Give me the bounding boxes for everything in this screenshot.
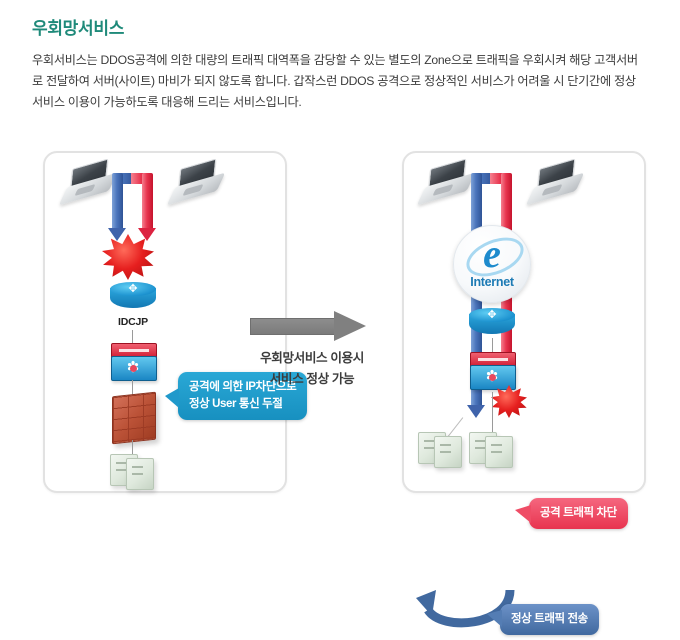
- transition-caption-line-2: 서비스 정상 가능: [228, 369, 396, 390]
- server-icon: [110, 450, 156, 490]
- router-arrows-glyph: ✥: [120, 283, 146, 295]
- callout-attack-traffic-block: 공격 트래픽 차단: [529, 498, 628, 529]
- switch-indicator: [130, 365, 137, 372]
- router-label: IDCJP: [88, 316, 178, 328]
- page-description-text: 우회서비스는 DDOS공격에 의한 대량의 트래픽 대역폭을 감당할 수 있는 …: [32, 50, 647, 113]
- server-icon: [469, 428, 515, 468]
- internet-label: Internet: [454, 275, 530, 289]
- router-icon: ✥: [469, 308, 515, 338]
- callout-normal-traffic-forward: 정상 트래픽 전송: [500, 604, 599, 635]
- arrowhead-red-down-icon: [138, 228, 156, 241]
- router-arrows-glyph: ✥: [479, 309, 505, 321]
- laptop-icon: [420, 164, 476, 204]
- transition-caption: 우회망서비스 이용시 서비스 정상 가능: [228, 348, 396, 390]
- laptop-icon: [170, 164, 226, 204]
- service-diagram: ✥ IDCJP ✽ 공격에 의한 IP차단으로 정상 User 통신 두절 우: [0, 140, 680, 525]
- traffic-pipe-red-vertical: [142, 173, 153, 231]
- server-box: [434, 436, 462, 468]
- callout-text: 정상 트래픽 전송: [511, 613, 588, 625]
- server-box: [126, 458, 154, 490]
- callout-tail: [487, 610, 502, 627]
- traffic-pipe-blue-vertical: [112, 173, 123, 231]
- callout-tail: [165, 388, 179, 408]
- page-title: 우회망서비스: [32, 14, 124, 39]
- switch-indicator: [489, 374, 496, 381]
- callout-text: 공격 트래픽 차단: [540, 507, 617, 519]
- l3-switch-icon: ✽: [470, 352, 514, 388]
- laptop-icon: [529, 164, 585, 204]
- internet-icon: e Internet: [453, 225, 531, 303]
- arrowhead-blue-down-icon: [108, 228, 126, 241]
- transition-caption-line-1: 우회망서비스 이용시: [228, 348, 396, 369]
- l3-switch-icon: ✽: [111, 343, 155, 379]
- router-icon: ✥: [110, 282, 156, 312]
- firewall-icon: [112, 392, 156, 445]
- server-box: [485, 436, 513, 468]
- arrow-shaft: [250, 318, 336, 335]
- server-icon: [418, 428, 464, 468]
- transition-arrow-icon: [250, 312, 368, 342]
- arrowhead-blue-down-icon: [467, 405, 485, 418]
- arrow-head: [334, 311, 366, 341]
- laptop-icon: [62, 164, 118, 204]
- callout-tail: [515, 505, 531, 523]
- link-line: [132, 330, 133, 344]
- page-description: 우회서비스는 DDOS공격에 의한 대량의 트래픽 대역폭을 감당할 수 있는 …: [32, 50, 647, 113]
- callout-line-2: 정상 User 통신 두절: [189, 396, 296, 413]
